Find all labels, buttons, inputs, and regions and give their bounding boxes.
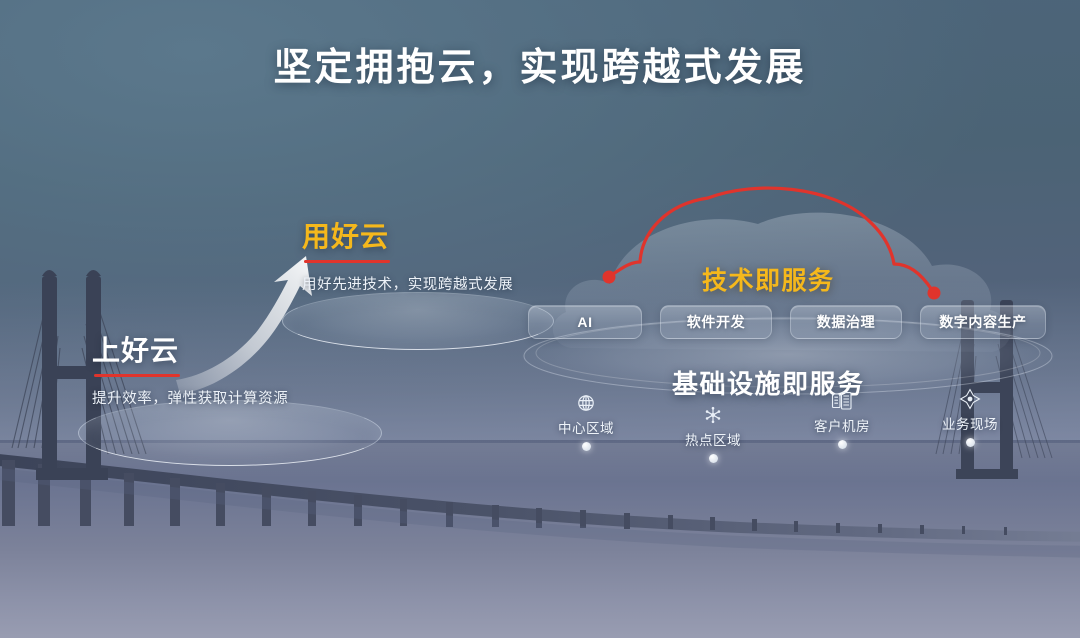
stage-yong-hao-yun-underline bbox=[304, 260, 390, 263]
slide-canvas: 坚定拥抱云，实现跨越式发展 上好云 提升效率，弹性获取计算资源 用好云 用好先进… bbox=[0, 0, 1080, 638]
stage-shang-hao-yun-subtitle: 提升效率，弹性获取计算资源 bbox=[92, 387, 288, 408]
page-title: 坚定拥抱云，实现跨越式发展 bbox=[0, 36, 1080, 91]
stage-shang-hao-yun-heading: 上好云 bbox=[92, 336, 288, 367]
stage-yong-hao-yun-heading: 用好云 bbox=[302, 222, 513, 253]
service-chip-content-label: 数字内容生产 bbox=[939, 312, 1027, 332]
stage-yong-hao-yun-subtitle: 用好先进技术，实现跨越式发展 bbox=[302, 273, 513, 294]
technology-as-a-service-title: 技术即服务 bbox=[702, 261, 835, 297]
infrastructure-as-a-service-title: 基础设施即服务 bbox=[672, 364, 865, 401]
service-chip-data-label: 数据治理 bbox=[817, 312, 875, 332]
service-chip-ai-label: AI bbox=[577, 314, 592, 330]
service-chip-row: AI 软件开发 数据治理 数字内容生产 bbox=[528, 305, 1048, 339]
service-chip-content[interactable]: 数字内容生产 bbox=[920, 305, 1046, 339]
service-chip-software[interactable]: 软件开发 bbox=[660, 305, 772, 339]
service-chip-data[interactable]: 数据治理 bbox=[790, 305, 902, 339]
service-chip-ai[interactable]: AI bbox=[528, 305, 642, 339]
stage-yong-hao-yun: 用好云 用好先进技术，实现跨越式发展 bbox=[302, 222, 513, 294]
stage-shang-hao-yun: 上好云 提升效率，弹性获取计算资源 bbox=[92, 336, 288, 408]
water-sheen bbox=[0, 443, 1080, 481]
stage-shang-hao-yun-underline bbox=[94, 374, 180, 377]
service-chip-software-label: 软件开发 bbox=[687, 312, 745, 332]
